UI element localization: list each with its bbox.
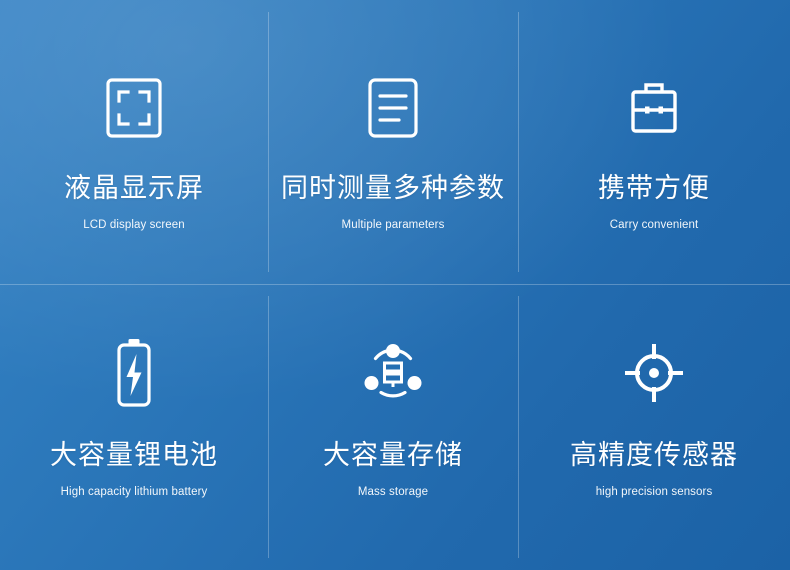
feature-title: 液晶显示屏 xyxy=(64,175,204,202)
feature-subtitle: Mass storage xyxy=(358,487,428,499)
crosshair-target-icon xyxy=(612,331,696,415)
feature-subtitle: high precision sensors xyxy=(596,487,713,499)
battery-bolt-icon xyxy=(92,331,176,415)
document-lines-icon xyxy=(351,66,435,150)
feature-title: 大容量存储 xyxy=(323,442,463,469)
feature-subtitle: Multiple parameters xyxy=(342,220,445,232)
feature-title: 高精度传感器 xyxy=(570,442,738,469)
feature-subtitle: Carry convenient xyxy=(610,220,699,232)
feature-title: 大容量锂电池 xyxy=(50,442,218,469)
lcd-screen-icon xyxy=(92,66,176,150)
toolbox-icon xyxy=(612,66,696,150)
feature-card-multiple-parameters[interactable]: 同时测量多种参数 Multiple parameters xyxy=(268,0,518,284)
feature-title: 同时测量多种参数 xyxy=(281,175,505,202)
feature-card-mass-storage[interactable]: 大容量存储 Mass storage xyxy=(268,284,518,570)
feature-card-carry-convenient[interactable]: 携带方便 Carry convenient xyxy=(518,0,790,284)
feature-card-lcd-display[interactable]: 液晶显示屏 LCD display screen xyxy=(0,0,268,284)
feature-panel: 液晶显示屏 LCD display screen 同时测量多种参数 Multip… xyxy=(0,0,790,570)
storage-network-icon xyxy=(351,331,435,415)
feature-card-precision-sensors[interactable]: 高精度传感器 high precision sensors xyxy=(518,284,790,570)
feature-subtitle: LCD display screen xyxy=(83,220,185,232)
feature-card-lithium-battery[interactable]: 大容量锂电池 High capacity lithium battery xyxy=(0,284,268,570)
feature-subtitle: High capacity lithium battery xyxy=(61,487,208,499)
feature-grid: 液晶显示屏 LCD display screen 同时测量多种参数 Multip… xyxy=(0,0,790,570)
feature-title: 携带方便 xyxy=(598,175,710,202)
